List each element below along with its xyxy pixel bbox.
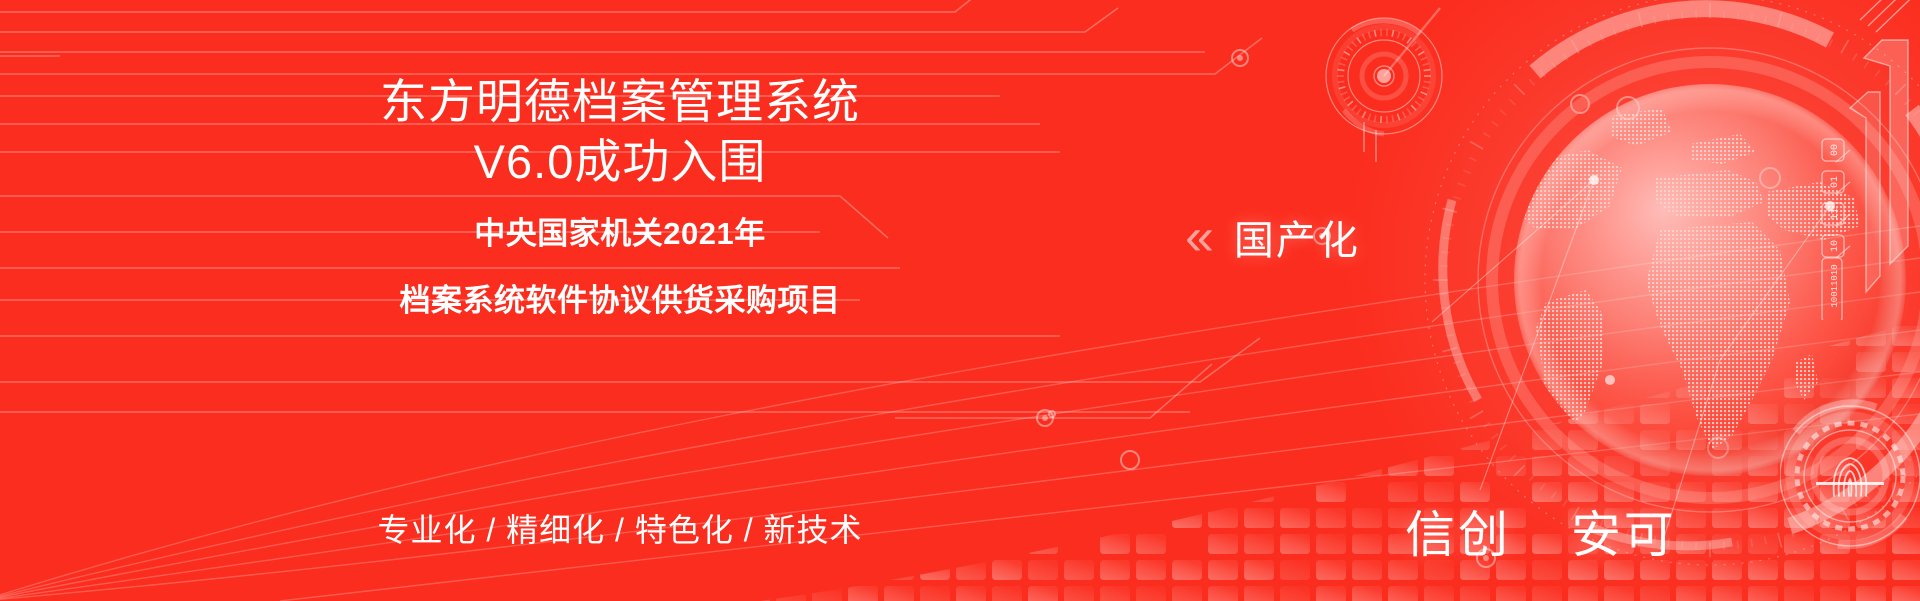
svg-text:10: 10: [1830, 240, 1841, 252]
subtitle-line-2: 档案系统软件协议供货采购项目: [300, 281, 940, 321]
xinchuang-slogan: 信创 安可: [1405, 495, 1677, 567]
svg-text:01: 01: [1830, 176, 1841, 188]
headline-block: 东方明德档案管理系统 V6.0成功入围 中央国家机关2021年 档案系统软件协议…: [300, 72, 940, 321]
chevron-double-left-icon: «: [1185, 211, 1208, 263]
domestic-badge: « 国产化: [1185, 208, 1360, 266]
svg-text:00: 00: [1830, 144, 1841, 156]
domestic-label: 国产化: [1234, 208, 1360, 266]
tech-side-panel-icon: 0001111010011010: [1820, 0, 1920, 320]
fingerprint-scanner-hud-icon: [1780, 398, 1920, 598]
subtitle-line-1: 中央国家机关2021年: [300, 214, 940, 254]
xinchuang-word-2: 安可: [1571, 507, 1677, 563]
radar-targeting-hud-icon: [1292, 0, 1472, 170]
svg-text:11: 11: [1830, 208, 1841, 220]
tagline: 专业化 / 精细化 / 特色化 / 新技术: [300, 505, 940, 551]
promo-banner: 0001111010011010 东方明德档案管理系统 V6.0成功入围 中央国…: [0, 0, 1920, 601]
title-line-2: V6.0成功入围: [300, 131, 940, 192]
svg-text:10011010: 10011010: [1830, 264, 1840, 307]
xinchuang-word-1: 信创: [1405, 507, 1511, 563]
title-line-1: 东方明德档案管理系统: [300, 72, 940, 131]
